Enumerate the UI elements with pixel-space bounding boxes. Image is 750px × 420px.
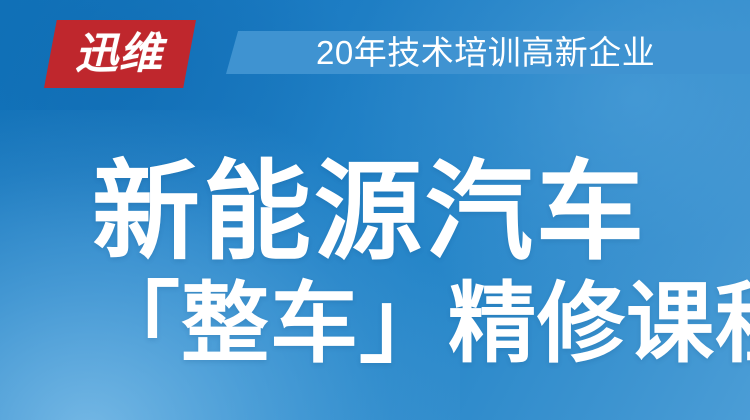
title-primary: 新能源汽车 xyxy=(92,155,647,269)
brand-logo-badge: 迅维 xyxy=(44,20,196,88)
promo-poster: 迅维 20年技术培训高新企业 新能源汽车 「整车」精修课程 xyxy=(0,0,750,420)
brand-logo-text: 迅维 xyxy=(44,20,196,88)
tagline-text: 20年技术培训高新企业 xyxy=(316,28,655,76)
title-secondary: 「整车」精修课程 xyxy=(92,277,750,370)
poster-header: 迅维 20年技术培训高新企业 xyxy=(0,0,750,105)
